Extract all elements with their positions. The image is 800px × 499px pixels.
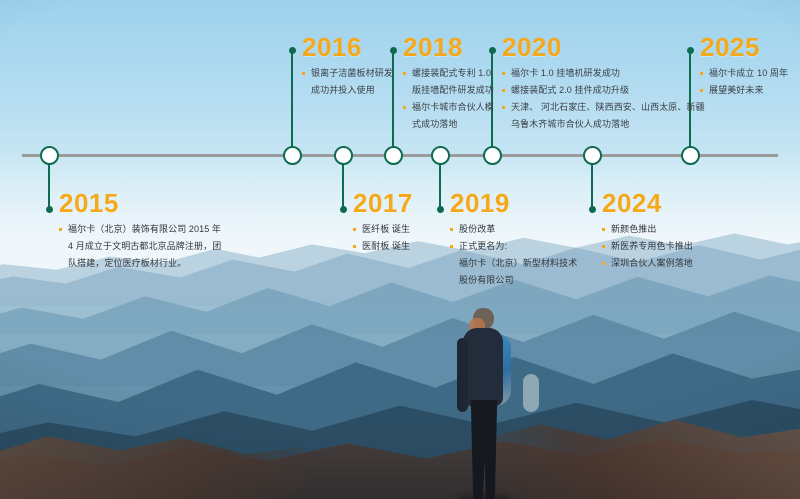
timeline-node-2024[interactable]	[583, 146, 602, 165]
event-bullet: 螺接装配式专利 1.0	[403, 67, 494, 81]
timeline-node-2020[interactable]	[483, 146, 502, 165]
timeline-node-2019[interactable]	[431, 146, 450, 165]
event-bullet-list: 医纤板 诞生医耐板 诞生	[353, 223, 413, 254]
event-year-2019: 2019	[450, 190, 577, 216]
event-bullet: 股份改革	[450, 223, 577, 237]
timeline-event-2025: 2025福尔卡成立 10 周年展望美好未来	[700, 34, 788, 101]
event-year-2018: 2018	[403, 34, 494, 60]
hiker-backpack-panel	[523, 374, 539, 412]
timeline-event-2024: 2024新颜色推出新医养专用色卡推出深圳合伙人案例落地	[602, 190, 693, 274]
timeline-event-2017: 2017医纤板 诞生医耐板 诞生	[353, 190, 413, 257]
event-year-2025: 2025	[700, 34, 788, 60]
timeline-node-2015[interactable]	[40, 146, 59, 165]
event-year-2015: 2015	[59, 190, 221, 216]
event-year-2024: 2024	[602, 190, 693, 216]
event-bullet: 螺接装配式 2.0 挂件成功升级	[502, 84, 705, 98]
event-bullet: 医纤板 诞生	[353, 223, 413, 237]
event-bullet-list: 螺接装配式专利 1.0版挂墙配件研发成功福尔卡城市合伙人模式成功落地	[403, 67, 494, 132]
timeline-event-2018: 2018螺接装配式专利 1.0版挂墙配件研发成功福尔卡城市合伙人模式成功落地	[403, 34, 494, 135]
timeline-event-2019: 2019股份改革正式更名为:福尔卡（北京）新型材料技术股份有限公司	[450, 190, 577, 291]
event-bullet: 版挂墙配件研发成功	[403, 84, 494, 98]
hiker-shadow	[457, 494, 513, 499]
event-bullet-list: 福尔卡 1.0 挂墙机研发成功螺接装配式 2.0 挂件成功升级天津、 河北石家庄…	[502, 67, 705, 132]
event-bullet: 乌鲁木齐城市合伙人成功落地	[502, 118, 705, 132]
timeline-event-2016: 2016银离子洁菌板材研发成功并投入使用	[302, 34, 393, 101]
event-bullet: 新颜色推出	[602, 223, 693, 237]
event-bullet-list: 股份改革正式更名为:福尔卡（北京）新型材料技术股份有限公司	[450, 223, 577, 288]
event-bullet: 福尔卡（北京）新型材料技术	[450, 257, 577, 271]
event-bullet-list: 新颜色推出新医养专用色卡推出深圳合伙人案例落地	[602, 223, 693, 271]
timeline-node-2017[interactable]	[334, 146, 353, 165]
event-bullet: 福尔卡成立 10 周年	[700, 67, 788, 81]
infographic-canvas: 2015福尔卡（北京）装饰有限公司 2015 年4 月成立于文明古都北京品牌注册…	[0, 0, 800, 499]
event-bullet: 医耐板 诞生	[353, 240, 413, 254]
event-bullet: 银离子洁菌板材研发	[302, 67, 393, 81]
timeline-connector-2016	[291, 50, 294, 155]
event-bullet: 新医养专用色卡推出	[602, 240, 693, 254]
connector-endpoint-dot	[437, 206, 444, 213]
timeline-node-2016[interactable]	[283, 146, 302, 165]
event-bullet: 4 月成立于文明古都北京品牌注册，团	[59, 240, 221, 254]
event-bullet: 福尔卡城市合伙人模	[403, 101, 494, 115]
event-bullet-list: 银离子洁菌板材研发成功并投入使用	[302, 67, 393, 98]
event-bullet: 成功并投入使用	[302, 84, 393, 98]
event-bullet: 天津、 河北石家庄、陕西西安、山西太原、新疆	[502, 101, 705, 115]
event-bullet: 深圳合伙人案例落地	[602, 257, 693, 271]
event-year-2016: 2016	[302, 34, 393, 60]
event-bullet: 福尔卡（北京）装饰有限公司 2015 年	[59, 223, 221, 237]
connector-endpoint-dot	[289, 47, 296, 54]
hiker-silhouette	[449, 308, 519, 499]
event-bullet: 股份有限公司	[450, 274, 577, 288]
event-bullet-list: 福尔卡成立 10 周年展望美好未来	[700, 67, 788, 98]
connector-endpoint-dot	[589, 206, 596, 213]
event-year-2017: 2017	[353, 190, 413, 216]
timeline-node-2025[interactable]	[681, 146, 700, 165]
hiker-legs	[469, 400, 499, 499]
timeline-event-2020: 2020福尔卡 1.0 挂墙机研发成功螺接装配式 2.0 挂件成功升级天津、 河…	[502, 34, 705, 135]
hiker-torso	[463, 328, 503, 406]
timeline-event-2015: 2015福尔卡（北京）装饰有限公司 2015 年4 月成立于文明古都北京品牌注册…	[59, 190, 221, 274]
event-bullet: 式成功落地	[403, 118, 494, 132]
event-bullet: 队搭建，定位医疗板材行业。	[59, 257, 221, 271]
event-bullet: 福尔卡 1.0 挂墙机研发成功	[502, 67, 705, 81]
connector-endpoint-dot	[340, 206, 347, 213]
event-bullet: 正式更名为:	[450, 240, 577, 254]
event-year-2020: 2020	[502, 34, 705, 60]
connector-endpoint-dot	[46, 206, 53, 213]
timeline-node-2018[interactable]	[384, 146, 403, 165]
event-bullet: 展望美好未来	[700, 84, 788, 98]
hiker-arm	[457, 338, 468, 412]
event-bullet-list: 福尔卡（北京）装饰有限公司 2015 年4 月成立于文明古都北京品牌注册，团队搭…	[59, 223, 221, 271]
